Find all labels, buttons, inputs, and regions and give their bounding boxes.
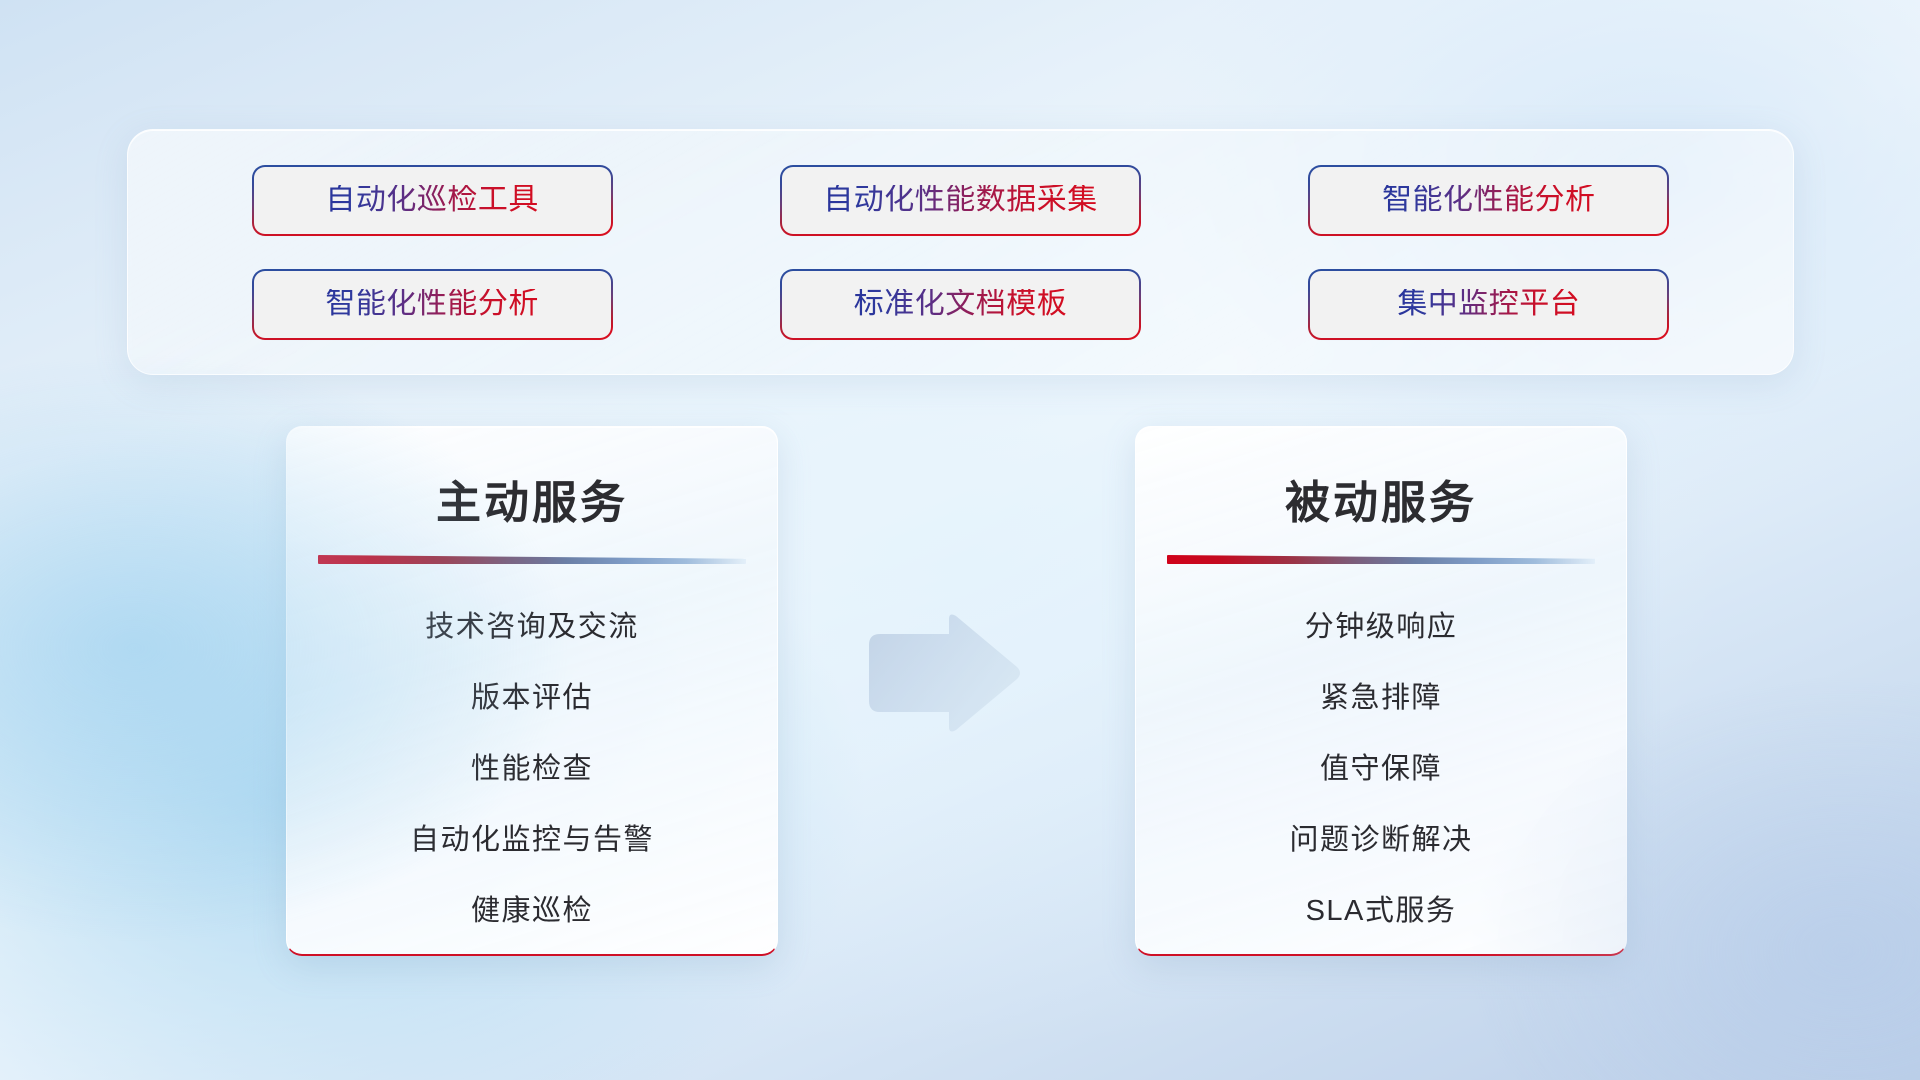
service-item-list: 技术咨询及交流 版本评估 性能检查 自动化监控与告警 健康巡检 — [287, 592, 777, 947]
arrow-right-icon — [865, 612, 1023, 734]
capability-pill-label: 自动化巡检工具 — [325, 185, 539, 215]
list-item: 版本评估 — [305, 663, 759, 734]
list-item: 自动化监控与告警 — [305, 805, 759, 876]
capability-pill[interactable]: 自动化巡检工具 — [254, 167, 611, 234]
capability-pill-label: 智能化性能分析 — [325, 289, 539, 319]
capability-pill-label: 标准化文档模板 — [854, 289, 1068, 319]
card-title-divider — [1167, 555, 1595, 564]
capability-pill-label: 自动化性能数据采集 — [823, 185, 1098, 215]
list-item: 问题诊断解决 — [1154, 805, 1608, 876]
list-item: 值守保障 — [1154, 734, 1608, 805]
capability-pill[interactable]: 智能化性能分析 — [1310, 167, 1667, 234]
service-item-list: 分钟级响应 紧急排障 值守保障 问题诊断解决 SLA式服务 — [1136, 592, 1626, 947]
card-title: 被动服务 — [1136, 466, 1626, 531]
capability-pill[interactable]: 自动化性能数据采集 — [782, 167, 1139, 234]
service-card-active: 主动服务 技术咨询及交流 版本评估 性能检查 自动化监控与告警 健康巡检 — [286, 426, 778, 956]
list-item: 紧急排障 — [1154, 663, 1608, 734]
capability-pill[interactable]: 标准化文档模板 — [782, 271, 1139, 338]
list-item: 性能检查 — [305, 734, 759, 805]
service-card-passive: 被动服务 分钟级响应 紧急排障 值守保障 问题诊断解决 SLA式服务 — [1135, 426, 1627, 956]
list-item: 技术咨询及交流 — [305, 592, 759, 663]
capability-pill-panel: 自动化巡检工具 自动化性能数据采集 智能化性能分析 智能化性能分析 标准化文档模… — [127, 129, 1794, 375]
list-item: SLA式服务 — [1154, 876, 1608, 947]
capability-pill-label: 智能化性能分析 — [1382, 185, 1596, 215]
list-item: 健康巡检 — [305, 876, 759, 947]
list-item: 分钟级响应 — [1154, 592, 1608, 663]
card-title-divider — [318, 555, 746, 564]
capability-pill-label: 集中监控平台 — [1397, 289, 1580, 319]
pill-grid: 自动化巡检工具 自动化性能数据采集 智能化性能分析 智能化性能分析 标准化文档模… — [128, 130, 1793, 374]
capability-pill[interactable]: 集中监控平台 — [1310, 271, 1667, 338]
infographic-canvas: 自动化巡检工具 自动化性能数据采集 智能化性能分析 智能化性能分析 标准化文档模… — [0, 0, 1920, 1080]
capability-pill[interactable]: 智能化性能分析 — [254, 271, 611, 338]
card-title: 主动服务 — [287, 466, 777, 531]
